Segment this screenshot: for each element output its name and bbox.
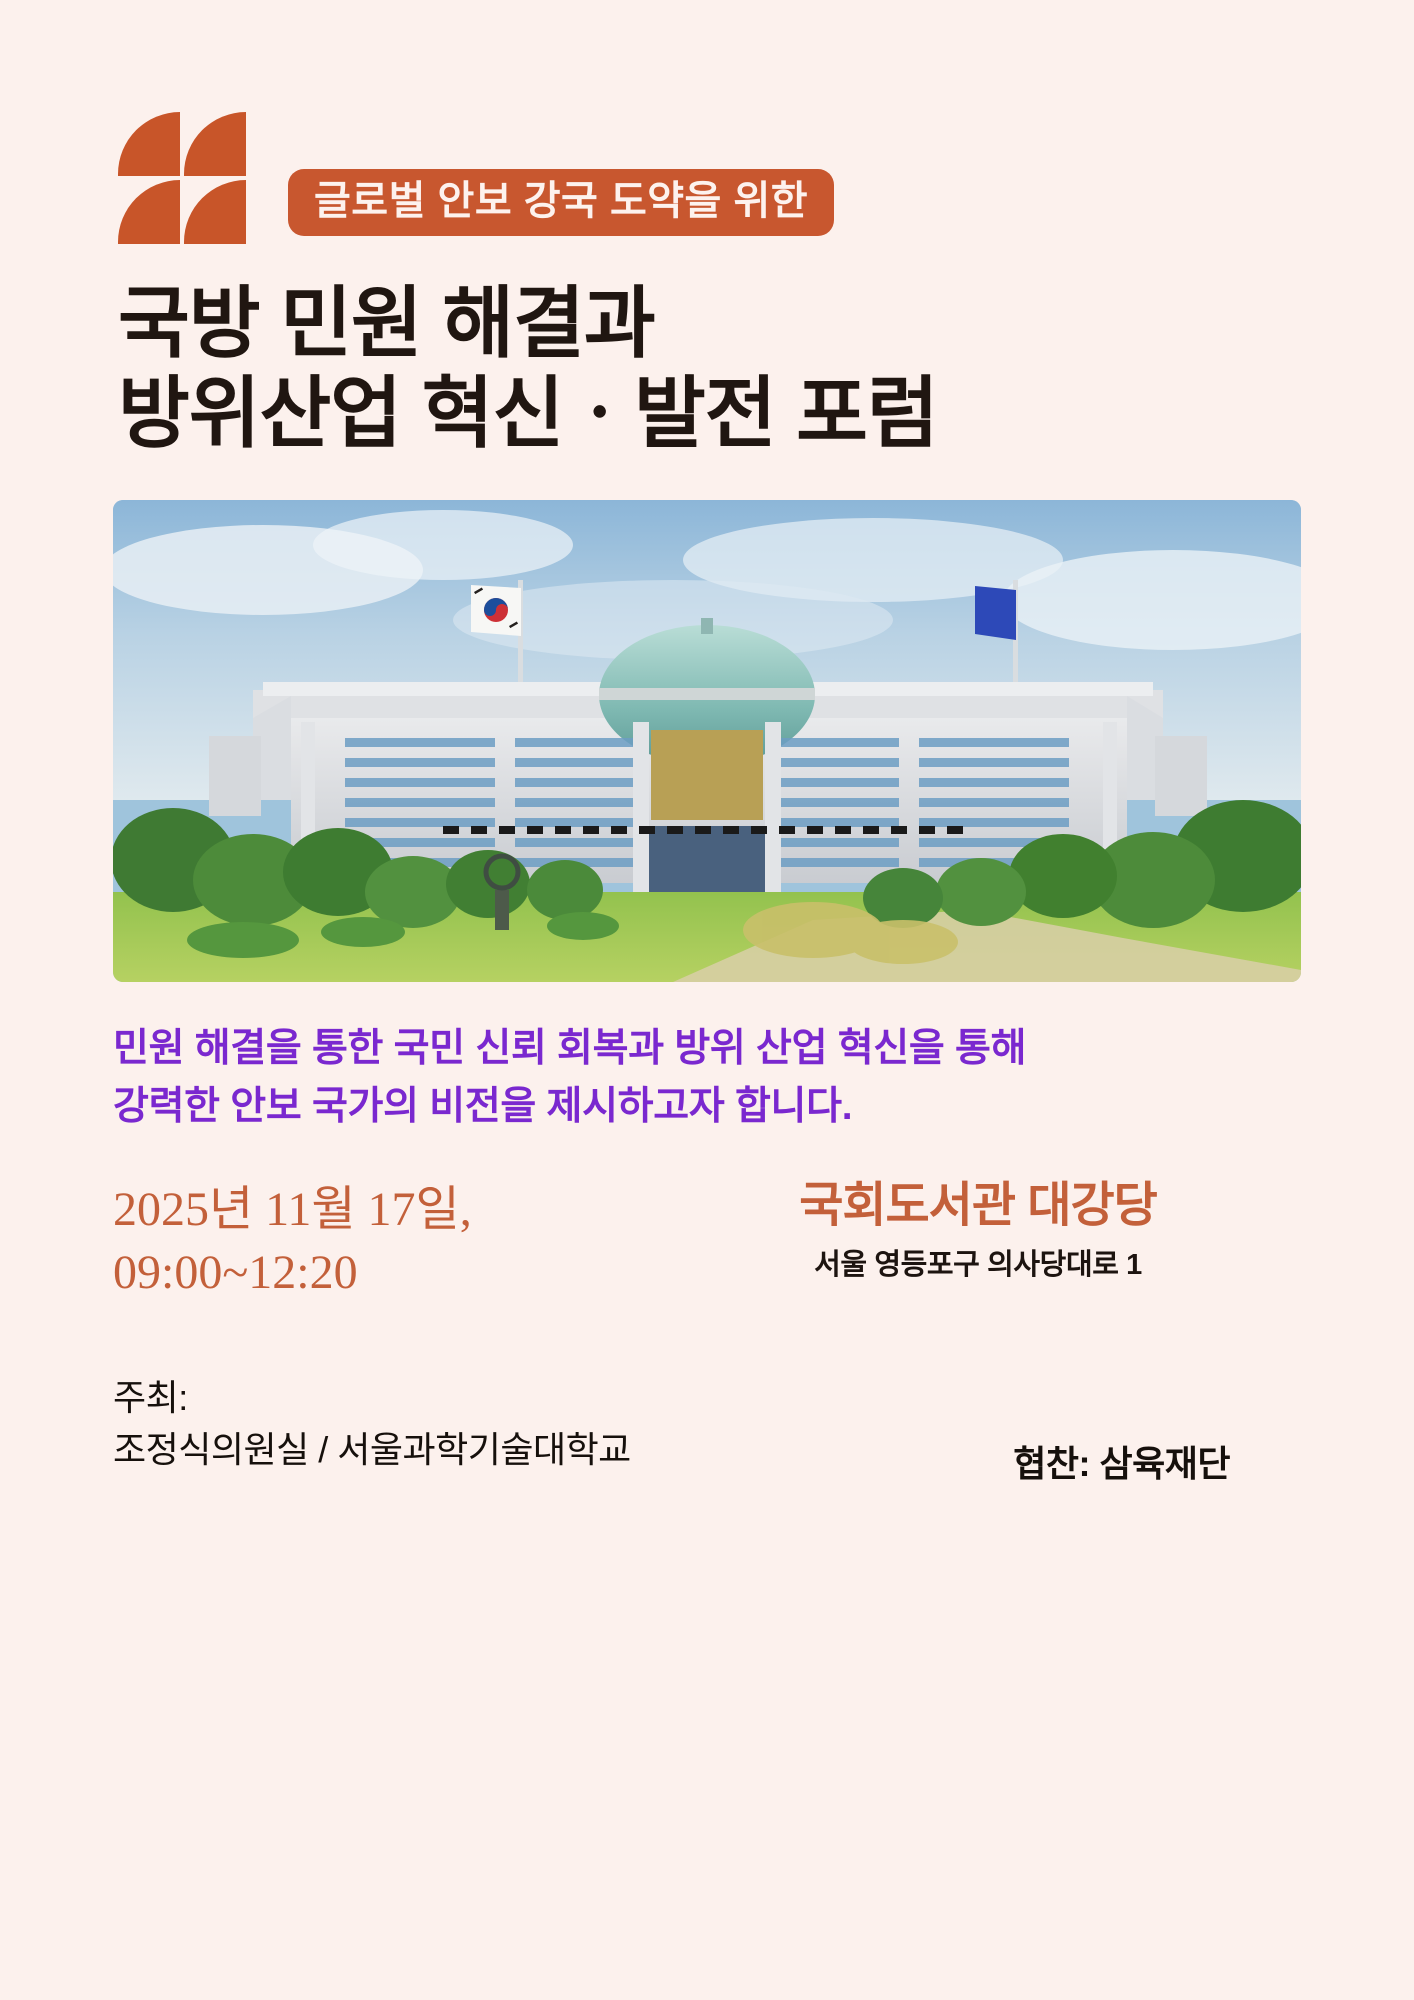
logo-quadrant-bottom-right bbox=[184, 180, 246, 244]
title-line-1: 국방 민원 해결과 bbox=[118, 278, 1318, 368]
event-poster: 글로벌 안보 강국 도약을 위한 국방 민원 해결과 방위산업 혁신ㆍ발전 포럼 bbox=[0, 0, 1414, 2000]
event-venue: 국회도서관 대강당 서울 영등포구 의사당대로 1 bbox=[643, 1178, 1313, 1283]
title-line-2: 방위산업 혁신ㆍ발전 포럼 bbox=[118, 368, 1318, 458]
venue-name: 국회도서관 대강당 bbox=[643, 1178, 1313, 1235]
event-date: 2025년 11월 17일, bbox=[113, 1178, 472, 1241]
logo-quadrant-bottom-left bbox=[118, 180, 180, 244]
quarter-circle-grid-logo bbox=[118, 112, 248, 247]
photo-illustration bbox=[113, 500, 1301, 982]
logo-quadrant-top-left bbox=[118, 112, 180, 176]
event-datetime: 2025년 11월 17일, 09:00~12:20 bbox=[113, 1178, 472, 1305]
venue-address: 서울 영등포구 의사당대로 1 bbox=[643, 1241, 1313, 1283]
host-names: 조정식의원실 / 서울과학기술대학교 bbox=[113, 1424, 631, 1476]
national-assembly-photo bbox=[113, 500, 1301, 982]
event-info: 2025년 11월 17일, 09:00~12:20 국회도서관 대강당 서울 … bbox=[113, 1178, 1313, 1318]
page-title: 국방 민원 해결과 방위산업 혁신ㆍ발전 포럼 bbox=[118, 278, 1318, 459]
poster-header: 글로벌 안보 강국 도약을 위한 bbox=[118, 112, 1298, 252]
event-time: 09:00~12:20 bbox=[113, 1241, 472, 1304]
description-line-2: 강력한 안보 국가의 비전을 제시하고자 합니다. bbox=[113, 1078, 1313, 1136]
poster-footer: 주최: 조정식의원실 / 서울과학기술대학교 협찬: 삼육재단 bbox=[113, 1372, 1313, 1512]
logo-quadrant-top-right bbox=[184, 112, 246, 176]
tagline-badge: 글로벌 안보 강국 도약을 위한 bbox=[288, 169, 834, 236]
host-label: 주최: bbox=[113, 1372, 631, 1424]
poster-description: 민원 해결을 통한 국민 신뢰 회복과 방위 산업 혁신을 통해 강력한 안보 … bbox=[113, 1020, 1313, 1135]
description-line-1: 민원 해결을 통한 국민 신뢰 회복과 방위 산업 혁신을 통해 bbox=[113, 1020, 1313, 1078]
host-block: 주최: 조정식의원실 / 서울과학기술대학교 bbox=[113, 1372, 631, 1476]
sponsor-label: 협찬: 삼육재단 bbox=[1013, 1435, 1230, 1487]
